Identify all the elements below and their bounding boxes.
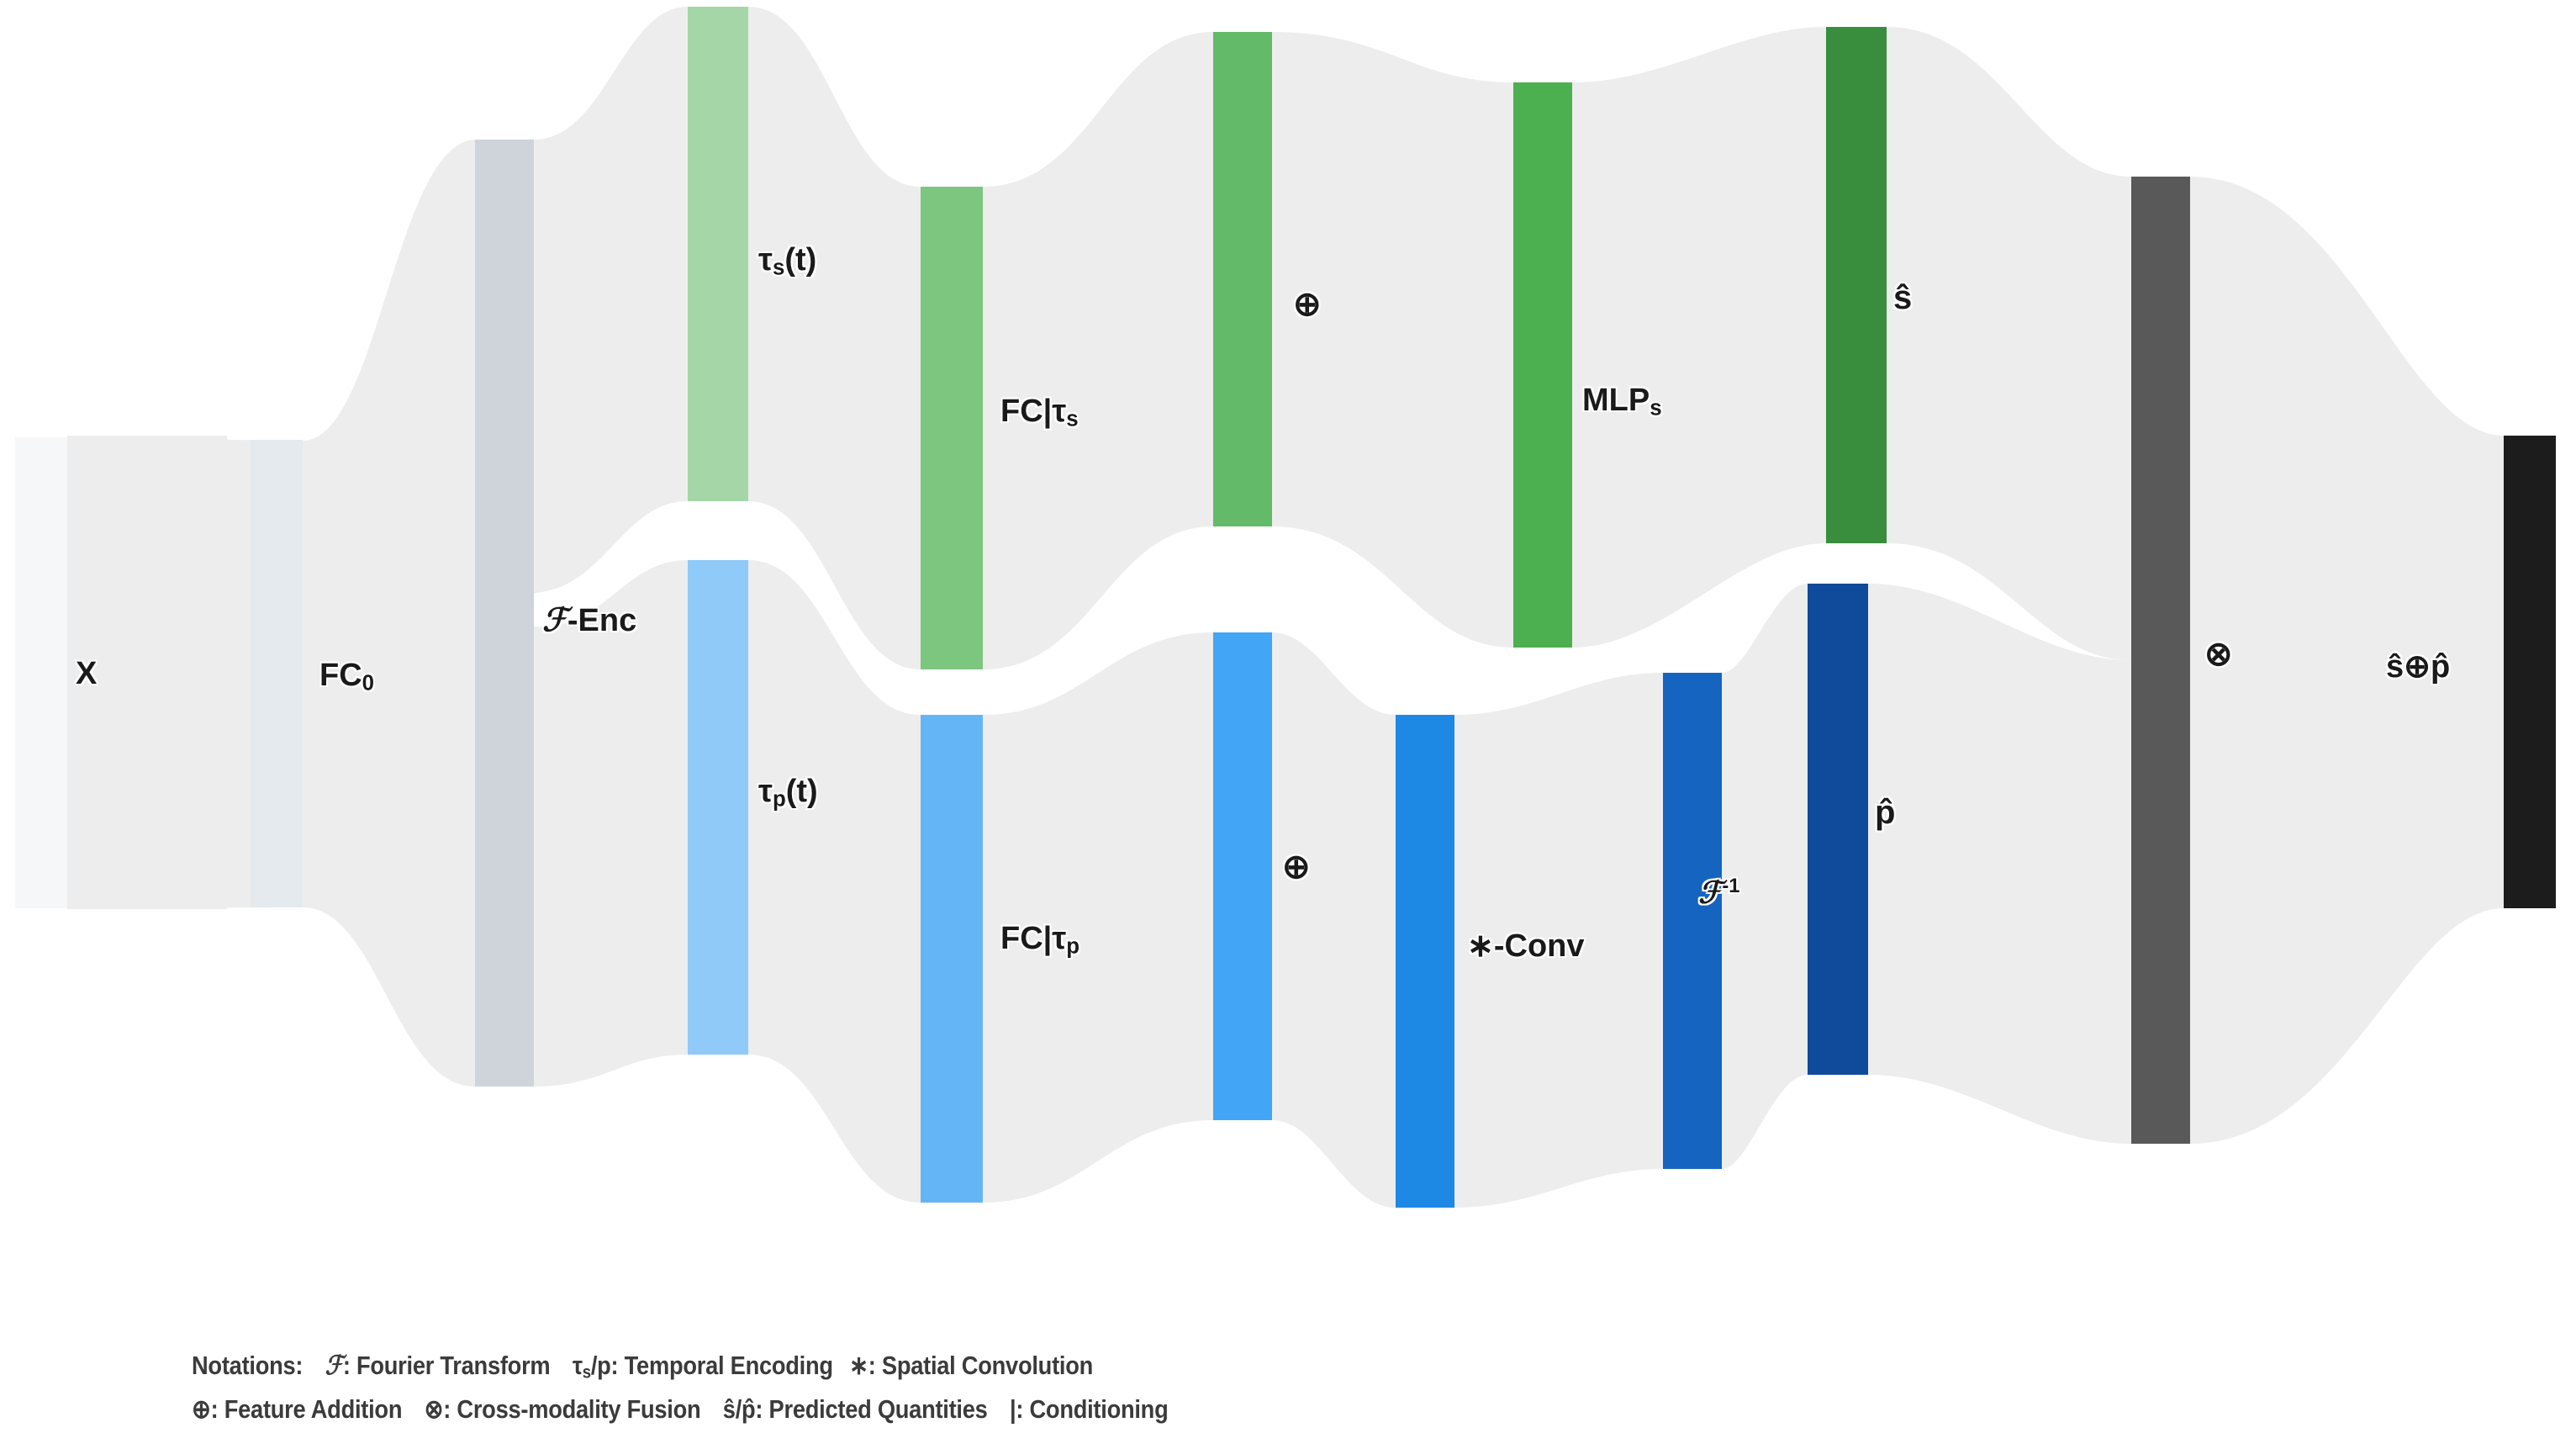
legend-otimes-icon: ⊗ [425,1396,444,1422]
legend-predicted-text: : Predicted Quantities [755,1396,987,1422]
ribbon-shat-to-fusion [1887,27,2131,660]
node-bar-fc0[interactable] [251,440,303,907]
ribbon-fenc-to-taup [534,560,688,1087]
ribbon-addp-to-conv [1272,632,1396,1208]
ribbon-mlps-to-shat [1572,27,1826,648]
node-bar-f-inv[interactable] [1663,673,1722,1169]
legend-conditioning-text: : Conditioning [1016,1396,1168,1422]
node-bar-add-s[interactable] [1213,32,1272,526]
legend-tau-sub: s [583,1363,591,1383]
legend-predicted-icon: ŝ/p̂ [723,1396,756,1422]
node-bar-fc-tau-s[interactable] [921,187,983,669]
ribbon-phat-to-fusion [1868,584,2131,1144]
node-bar-fc-tau-p[interactable] [921,715,983,1203]
legend-tau-text: /p: Temporal Encoding [591,1352,833,1378]
node-bar-add-p[interactable] [1213,632,1272,1120]
ribbon-fusion-to-output [2190,177,2504,1144]
node-bar-s-hat[interactable] [1826,27,1887,543]
node-bar-tau-p[interactable] [688,560,748,1055]
ribbon-adds-to-mlps [1272,32,1513,648]
node-bar-mlp-s[interactable] [1513,82,1572,648]
ribbon-conv-to-finv [1454,673,1663,1208]
legend-row-1: Notations:ℱ: Fourier Transformτs/p: Temp… [192,1352,1560,1396]
ribbon-fctaus-to-adds [983,32,1213,669]
legend-tau-icon: τ [573,1352,583,1378]
node-bar-x-body[interactable] [67,436,227,909]
node-bar-fusion[interactable] [2131,177,2190,1144]
node-bar-output[interactable] [2504,436,2556,908]
ribbon-fctaup-to-addp [983,632,1213,1203]
legend-fourier-icon: ℱ [325,1353,343,1379]
legend-conv-text: : Spatial Convolution [868,1352,1093,1378]
architecture-diagram: X FC0 ℱ-Enc τs(t) τp(t) FC|τs FC|τp ⊕ ⊕ … [0,0,2576,1449]
legend-oplus-icon: ⊕ [192,1396,211,1422]
legend-oplus-text: : Feature Addition [211,1396,403,1422]
legend-conditioning-icon: | [1010,1396,1016,1422]
sankey-flow-canvas [0,0,2576,1449]
ribbon-fenc-to-taus [534,7,688,593]
node-bar-tau-s[interactable] [688,7,748,501]
legend-otimes-text: : Cross-modality Fusion [443,1396,700,1422]
notations-legend: Notations:ℱ: Fourier Transformτs/p: Temp… [192,1352,1560,1440]
legend-conv-icon: ∗ [849,1352,868,1378]
node-bar-p-hat[interactable] [1808,584,1868,1075]
legend-fourier-text: : Fourier Transform [343,1352,551,1378]
node-bar-fenc[interactable] [475,140,534,1087]
legend-row-2: ⊕: Feature Addition⊗: Cross-modality Fus… [192,1396,1560,1440]
node-bar-conv[interactable] [1396,715,1454,1208]
node-bar-x[interactable] [15,437,67,908]
ribbon-fc0-to-fenc [303,140,475,1087]
legend-prefix: Notations: [192,1352,303,1378]
ribbon-finv-to-phat [1722,584,1808,1169]
